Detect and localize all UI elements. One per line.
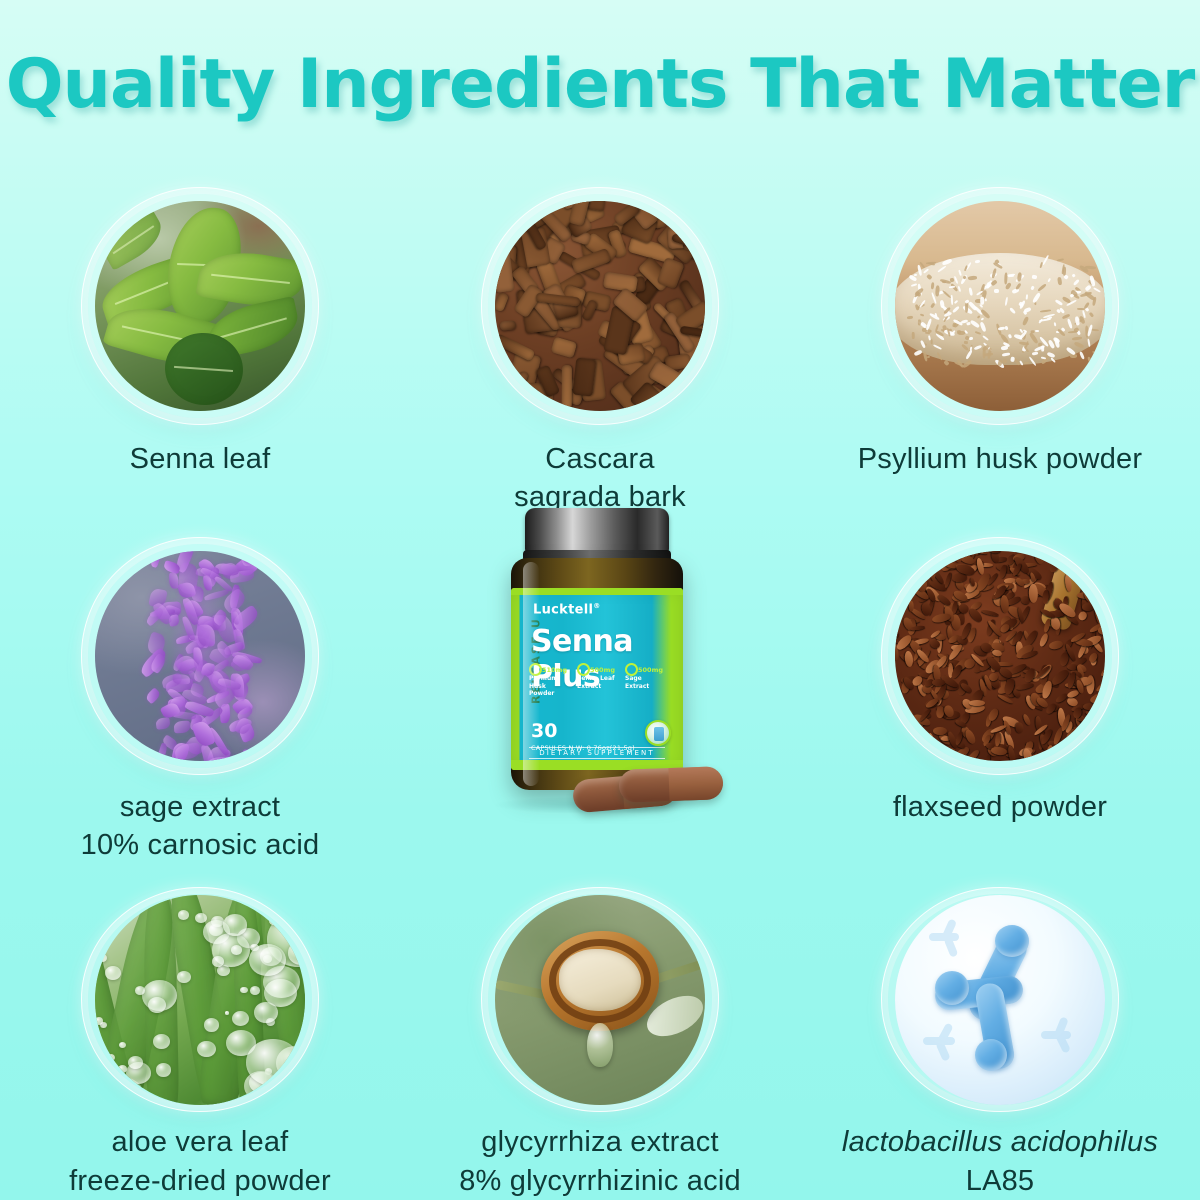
active-name-line1: Senna Leaf — [577, 675, 621, 683]
ingredient-card-aloe-vera[interactable]: aloe vera leaf freeze-dried powder — [0, 868, 400, 1200]
active-dose: 510mg — [542, 666, 573, 674]
bottle-label: RELEASE U Lucktell® Senna Plus 510mg Psy… — [511, 588, 683, 770]
ingredient-label-line1: aloe vera leaf — [20, 1123, 380, 1161]
capsule-count: 30 — [531, 722, 635, 741]
product-showcase[interactable]: RELEASE U Lucktell® Senna Plus 510mg Psy… — [400, 518, 800, 868]
cascara-bark-photo — [495, 201, 705, 411]
ingredient-image-bubble — [488, 194, 712, 418]
senna-leaf-photo — [95, 201, 305, 411]
ingredient-image-bubble — [488, 894, 712, 1105]
ingredient-label: sage extract 10% carnosic acid — [20, 788, 380, 865]
psyllium-husk-photo — [895, 201, 1105, 411]
active-name-line2: Husk Powder — [529, 683, 573, 698]
sage-icon — [625, 663, 638, 676]
ingredient-label-line1: lactobacillus acidophilus — [820, 1123, 1180, 1161]
ingredient-card-sage[interactable]: sage extract 10% carnosic acid — [0, 518, 400, 868]
ingredient-card-lactobacillus[interactable]: lactobacillus acidophilus LA85 — [800, 868, 1200, 1200]
active-dose: 500mg — [638, 666, 669, 674]
ingredient-card-cascara[interactable]: Cascara sagrada bark — [400, 168, 800, 518]
quality-seal-icon — [645, 720, 671, 746]
probiotic-bacteria-icon — [895, 895, 1105, 1105]
bottle-cap — [525, 508, 669, 554]
ingredient-label-line1: Cascara — [420, 440, 780, 478]
active-ingredients-row: 510mg Psyllium Husk Powder 500mg Senna L… — [529, 666, 669, 698]
capsule — [618, 766, 723, 803]
sage-flower-photo — [95, 551, 305, 761]
ingredient-label-line1: Psyllium husk powder — [820, 440, 1180, 478]
ingredient-label-line1: flaxseed powder — [820, 788, 1180, 826]
active-ingredient: 510mg Psyllium Husk Powder — [529, 666, 573, 698]
ingredient-label-line2: 10% carnosic acid — [20, 826, 380, 864]
ingredient-label: glycyrrhiza extract 8% glycyrrhizinic ac… — [420, 1123, 780, 1200]
ingredient-label: aloe vera leaf freeze-dried powder — [20, 1123, 380, 1200]
ingredient-label: lactobacillus acidophilus LA85 — [820, 1123, 1180, 1200]
header: Quality Ingredients That Matter — [0, 0, 1200, 150]
ingredient-card-flaxseed[interactable]: flaxseed powder — [800, 518, 1200, 868]
ingredient-label-line2: freeze-dried powder — [20, 1162, 380, 1200]
ingredient-label-line2: LA85 — [820, 1162, 1180, 1200]
ingredient-card-psyllium[interactable]: Psyllium husk powder — [800, 168, 1200, 518]
ingredient-image-bubble — [88, 894, 312, 1105]
active-ingredient: 500mg Senna Leaf Extract — [577, 666, 621, 698]
ingredient-label-line1: sage extract — [20, 788, 380, 826]
active-name-line1: Sage — [625, 675, 669, 683]
active-dose: 500mg — [590, 666, 621, 674]
active-ingredient: 500mg Sage Extract — [625, 666, 669, 698]
product-bottle[interactable]: RELEASE U Lucktell® Senna Plus 510mg Psy… — [455, 500, 745, 830]
ingredient-label-line2: 8% glycyrrhizinic acid — [420, 1162, 780, 1200]
psyllium-icon — [529, 663, 542, 676]
glycyrrhiza-photo — [495, 895, 705, 1105]
ingredient-image-bubble — [888, 194, 1112, 418]
brand-name: Lucktell® — [533, 602, 601, 617]
ingredient-card-glycyrrhiza[interactable]: glycyrrhiza extract 8% glycyrrhizinic ac… — [400, 868, 800, 1200]
page-title: Quality Ingredients That Matter — [6, 45, 1195, 124]
ingredient-label: flaxseed powder — [820, 788, 1180, 826]
ingredient-image-bubble — [888, 894, 1112, 1105]
aloe-vera-leaf-photo — [95, 895, 305, 1105]
active-name-line2: Extract — [625, 683, 669, 691]
active-name-line1: Psyllium — [529, 675, 573, 683]
ingredient-label: Psyllium husk powder — [820, 440, 1180, 478]
ingredient-image-bubble — [88, 544, 312, 768]
ingredient-label: Senna leaf — [20, 440, 380, 478]
senna-icon — [577, 663, 590, 676]
ingredient-image-bubble — [888, 544, 1112, 768]
ingredient-image-bubble — [88, 194, 312, 418]
ingredient-card-senna-leaf[interactable]: Senna leaf — [0, 168, 400, 518]
active-name-line2: Extract — [577, 683, 621, 691]
dietary-supplement-text: DIETARY SUPPLEMENT — [529, 747, 665, 759]
ingredient-label-line1: Senna leaf — [20, 440, 380, 478]
ingredients-grid: Senna leaf Cascara sagrada bark Psyllium… — [0, 168, 1200, 1200]
ingredient-label-line1: glycyrrhiza extract — [420, 1123, 780, 1161]
capsules-group — [573, 762, 733, 814]
flaxseed-photo — [895, 551, 1105, 761]
